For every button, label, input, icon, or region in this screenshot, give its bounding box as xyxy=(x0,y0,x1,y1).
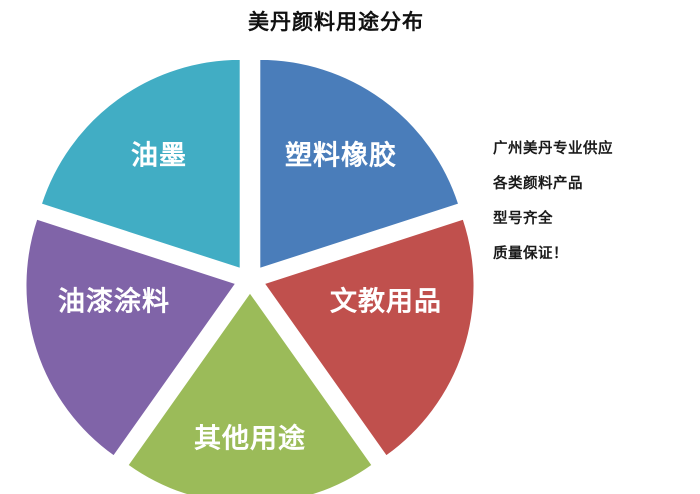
pie-chart-infographic: 美丹颜料用途分布 塑料橡胶 文教用品 其他用途 油漆涂料 油墨 广州美丹 xyxy=(0,0,700,494)
side-note-line-1: 广州美丹专业供应 xyxy=(493,131,693,166)
pie-slice-label-plastic-rubber: 塑料橡胶 xyxy=(285,140,397,172)
pie-chart: 塑料橡胶 文教用品 其他用途 油漆涂料 油墨 xyxy=(0,30,500,494)
side-note-line-2: 各类颜料产品 xyxy=(493,166,693,201)
side-note-line-4: 质量保证！ xyxy=(493,236,693,271)
pie-slice-label-other-uses: 其他用途 xyxy=(194,423,306,455)
side-note-line-3: 型号齐全 xyxy=(493,201,693,236)
pie-slice-label-paint-coating: 油漆涂料 xyxy=(58,286,170,318)
side-note-block: 广州美丹专业供应 各类颜料产品 型号齐全 质量保证！ xyxy=(493,131,693,271)
pie-slice-label-stationery: 文教用品 xyxy=(330,286,442,318)
pie-slice-label-ink: 油墨 xyxy=(131,141,187,172)
